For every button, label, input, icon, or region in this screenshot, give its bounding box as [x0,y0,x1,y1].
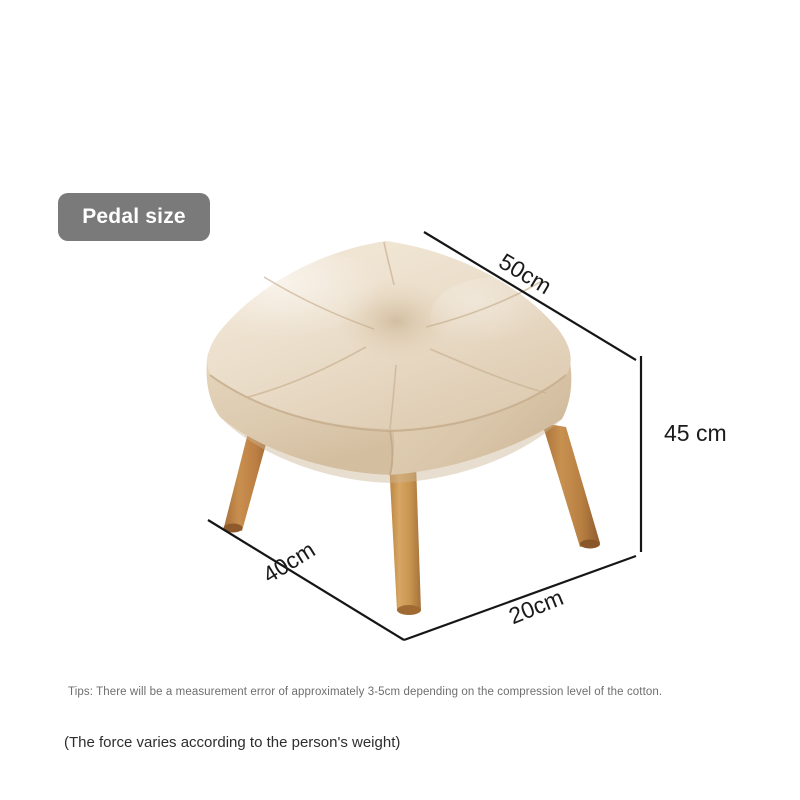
leg-front [389,461,421,611]
leg-right [542,423,600,547]
pedal-size-badge: Pedal size [58,193,210,241]
force-caption: (The force varies according to the perso… [64,734,400,751]
dimension-label-45: 45 cm [664,420,727,447]
leg-front-foot [397,605,421,615]
tips-caption: Tips: There will be a measurement error … [68,686,662,698]
leg-left-foot [224,524,243,533]
leg-right-foot [580,540,600,549]
product-dimension-infographic: Pedal size [0,0,800,800]
footstool-illustration [190,225,630,645]
pedal-size-badge-label: Pedal size [82,205,186,229]
